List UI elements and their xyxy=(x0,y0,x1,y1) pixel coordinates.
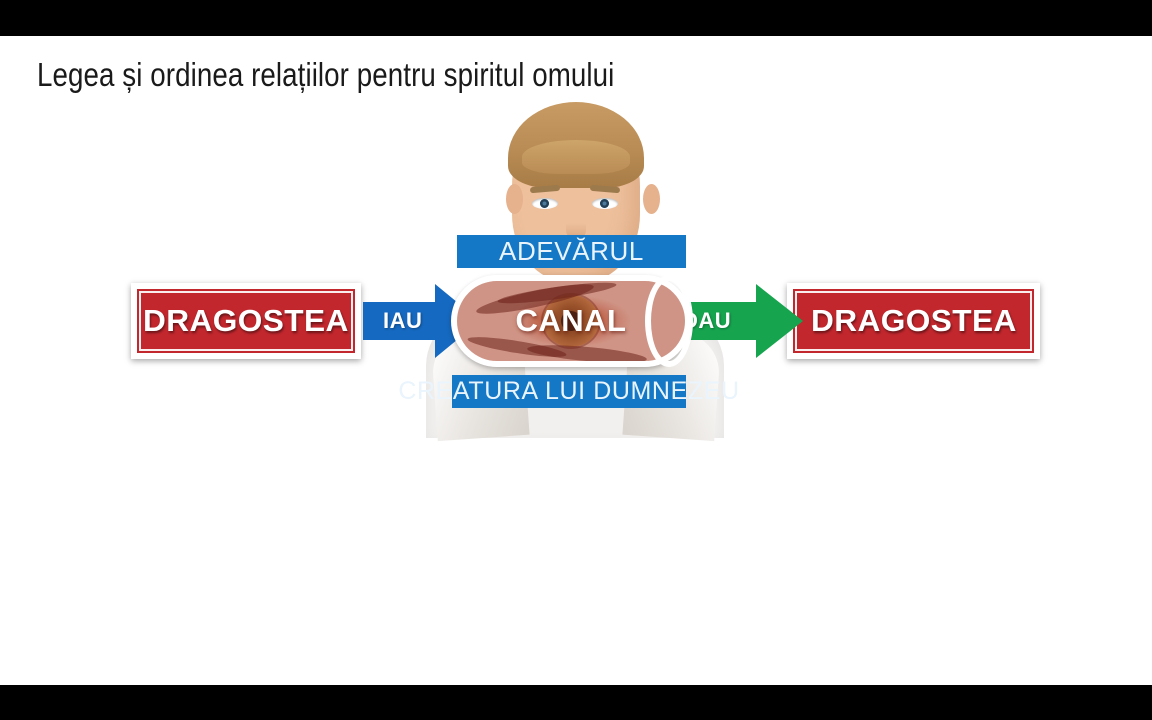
creatura-bar[interactable]: CREATURA LUI DUMNEZEU xyxy=(452,375,686,408)
letterbox-bottom xyxy=(0,685,1152,720)
slide-canvas: Legea și ordinea relațiilor pentru spiri… xyxy=(0,36,1152,685)
left-love-box-label: DRAGOSTEA xyxy=(143,303,349,339)
left-love-box[interactable]: DRAGOSTEA xyxy=(131,283,361,359)
letterbox-top xyxy=(0,0,1152,36)
relationship-diagram: DRAGOSTEA IAU DAU ADEVĂRUL xyxy=(0,36,1152,685)
adevarul-bar-label: ADEVĂRUL xyxy=(499,236,644,267)
adevarul-bar[interactable]: ADEVĂRUL xyxy=(457,235,686,268)
canal-label: CANAL xyxy=(451,275,691,367)
right-love-box[interactable]: DRAGOSTEA xyxy=(787,283,1040,359)
canal-cylinder[interactable]: CANAL xyxy=(451,275,691,367)
right-love-box-label: DRAGOSTEA xyxy=(811,303,1017,339)
slide-stage: Legea și ordinea relațiilor pentru spiri… xyxy=(0,0,1152,720)
creatura-bar-label: CREATURA LUI DUMNEZEU xyxy=(398,377,739,406)
iau-arrow-label: IAU xyxy=(383,282,422,360)
